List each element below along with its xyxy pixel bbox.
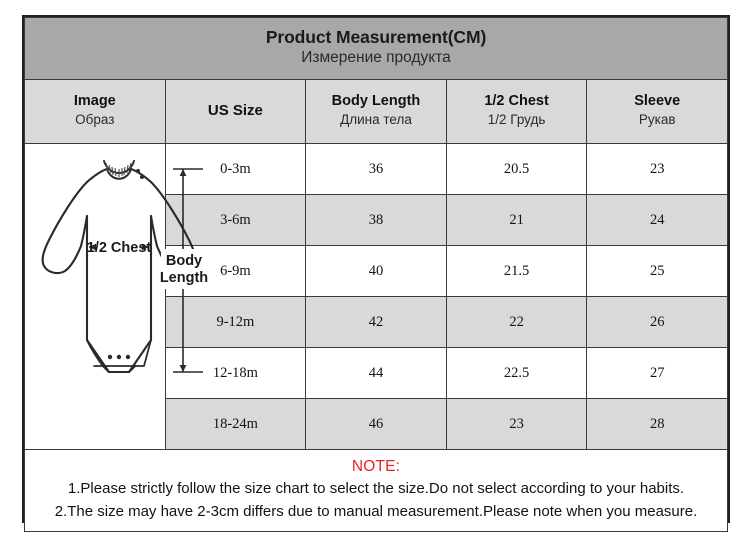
baby-bodysuit-icon: 1/2 Chest Body Length [25,144,213,449]
crotch-snap-buttons [108,355,130,359]
column-header-us-size: US Size [165,80,306,144]
half-chest-label: 1/2 Chest [87,240,152,256]
measurement-table: Product Measurement(CM) Измерение продук… [24,17,728,532]
column-header-half-chest-en: 1/2 Chest [449,92,585,111]
header-row: Image Образ US Size Body Length Длина те… [25,80,728,144]
cell-body-length: 36 [306,144,447,195]
cell-sleeve: 27 [587,348,728,399]
page-subtitle: Измерение продукта [25,48,727,69]
cell-half-chest: 20.5 [446,144,587,195]
page-title: Product Measurement(CM) [25,26,727,48]
cell-body-length: 38 [306,195,447,246]
column-header-us-size-en: US Size [168,101,304,121]
cell-sleeve: 24 [587,195,728,246]
note-title: NOTE: [31,456,721,478]
cell-body-length: 46 [306,399,447,450]
column-header-sleeve: Sleeve Рукав [587,80,728,144]
body-length-label-line1: Body [166,253,202,269]
table-row: 1/2 Chest Body Length 0-3m 36 20.5 [25,144,728,195]
cell-body-length: 44 [306,348,447,399]
body-length-label-line2: Length [160,270,208,286]
note-line-2: 2.The size may have 2-3cm differs due to… [31,501,721,524]
cell-body-length: 40 [306,246,447,297]
cell-half-chest: 22 [446,297,587,348]
cell-half-chest: 23 [446,399,587,450]
column-header-image-en: Image [27,92,163,111]
column-header-image-ru: Образ [27,111,163,129]
size-chart-table: Product Measurement(CM) Измерение продук… [22,15,730,523]
cell-half-chest: 22.5 [446,348,587,399]
title-band: Product Measurement(CM) Измерение продук… [25,18,728,80]
note-line-1: 1.Please strictly follow the size chart … [31,478,721,501]
title-row: Product Measurement(CM) Измерение продук… [25,18,728,80]
cell-sleeve: 28 [587,399,728,450]
column-header-half-chest-ru: 1/2 Грудь [449,111,585,129]
column-header-image: Image Образ [25,80,166,144]
cell-half-chest: 21.5 [446,246,587,297]
cell-sleeve: 26 [587,297,728,348]
cell-sleeve: 25 [587,246,728,297]
note-row: NOTE: 1.Please strictly follow the size … [25,450,728,532]
note-section: NOTE: 1.Please strictly follow the size … [25,450,728,532]
column-header-sleeve-ru: Рукав [589,111,725,129]
column-header-body-length: Body Length Длина тела [306,80,447,144]
column-header-body-length-en: Body Length [308,92,444,111]
cell-body-length: 42 [306,297,447,348]
cell-half-chest: 21 [446,195,587,246]
garment-diagram-cell: 1/2 Chest Body Length [25,144,166,450]
column-header-sleeve-en: Sleeve [589,92,725,111]
cell-sleeve: 23 [587,144,728,195]
column-header-half-chest: 1/2 Chest 1/2 Грудь [446,80,587,144]
column-header-body-length-ru: Длина тела [308,111,444,129]
